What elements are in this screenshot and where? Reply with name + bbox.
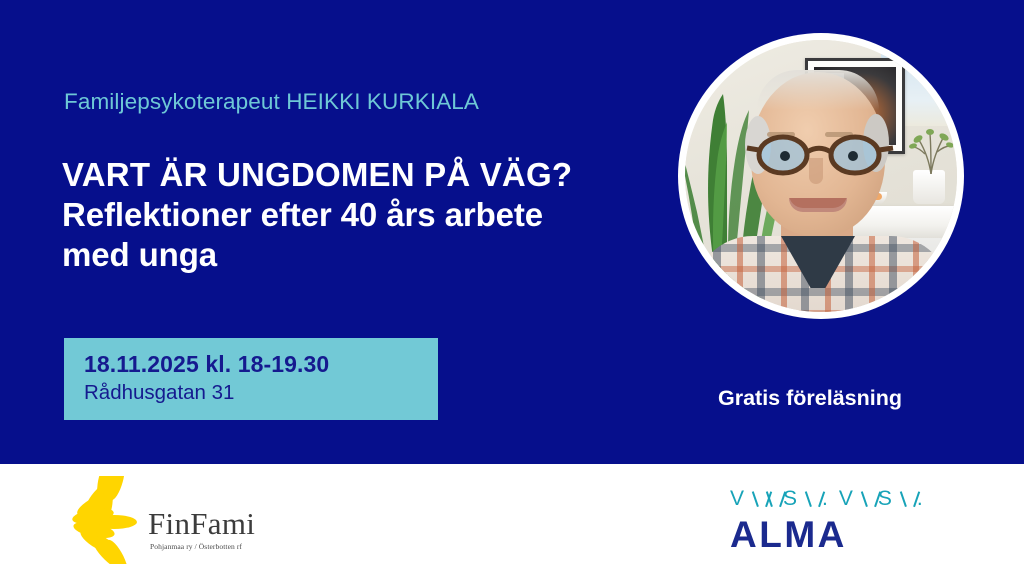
vaasa-letter-v2: V xyxy=(839,487,864,510)
photo-twig-plant xyxy=(909,124,953,174)
vaasa-vasa-wordmark: VS.VS. xyxy=(730,486,990,512)
finfami-subtitle: Pohjanmaa ry / Österbotten rf xyxy=(150,542,242,551)
vaasa-letter-s2: S xyxy=(878,487,903,510)
finfami-logo: FinFami Pohjanmaa ry / Österbotten rf xyxy=(62,476,282,564)
photo-flower-pot xyxy=(913,170,945,204)
vaasa-letter-s1: S xyxy=(783,487,808,510)
speaker-portrait-photo xyxy=(685,40,957,312)
event-address: Rådhusgatan 31 xyxy=(84,379,438,407)
vaasa-alma-logo: VS.VS. ALMA xyxy=(730,486,990,560)
vaasa-letter-a5 xyxy=(903,492,917,507)
photo-person-hair-top xyxy=(757,70,879,110)
vaasa-letter-a3 xyxy=(808,492,822,507)
sunflower-icon xyxy=(62,476,148,564)
vaasa-dot-1: . xyxy=(822,487,839,510)
vaasa-letter-a4 xyxy=(864,492,878,507)
event-date-time: 18.11.2025 kl. 18-19.30 xyxy=(84,349,438,379)
speaker-kicker-text: Familjepsykoterapeut HEIKKI KURKIALA xyxy=(64,89,479,115)
vaasa-letter-a2 xyxy=(769,492,783,507)
headline-line-2: Reflektioner efter 40 års arbete xyxy=(62,195,702,235)
alma-wordmark: ALMA xyxy=(730,514,990,556)
page-title: VART ÄR UNGDOMEN PÅ VÄG? Reflektioner ef… xyxy=(62,155,702,275)
event-details-box: 18.11.2025 kl. 18-19.30 Rådhusgatan 31 xyxy=(64,338,438,420)
photo-person-eyeglasses xyxy=(745,132,895,178)
footer-logo-bar: FinFami Pohjanmaa ry / Österbotten rf VS… xyxy=(0,464,1024,576)
speaker-portrait-ring xyxy=(678,33,964,319)
vaasa-letter-v1: V xyxy=(730,487,755,510)
headline-line-1: VART ÄR UNGDOMEN PÅ VÄG? xyxy=(62,155,702,195)
headline-line-3: med unga xyxy=(62,235,702,275)
navy-background-panel: Familjepsykoterapeut HEIKKI KURKIALA VAR… xyxy=(0,0,1024,464)
photo-person-smile xyxy=(789,198,847,212)
finfami-wordmark: FinFami xyxy=(148,506,255,542)
free-lecture-label: Gratis föreläsning xyxy=(718,386,902,411)
poster-canvas: Familjepsykoterapeut HEIKKI KURKIALA VAR… xyxy=(0,0,1024,576)
vaasa-dot-2: . xyxy=(917,487,934,510)
